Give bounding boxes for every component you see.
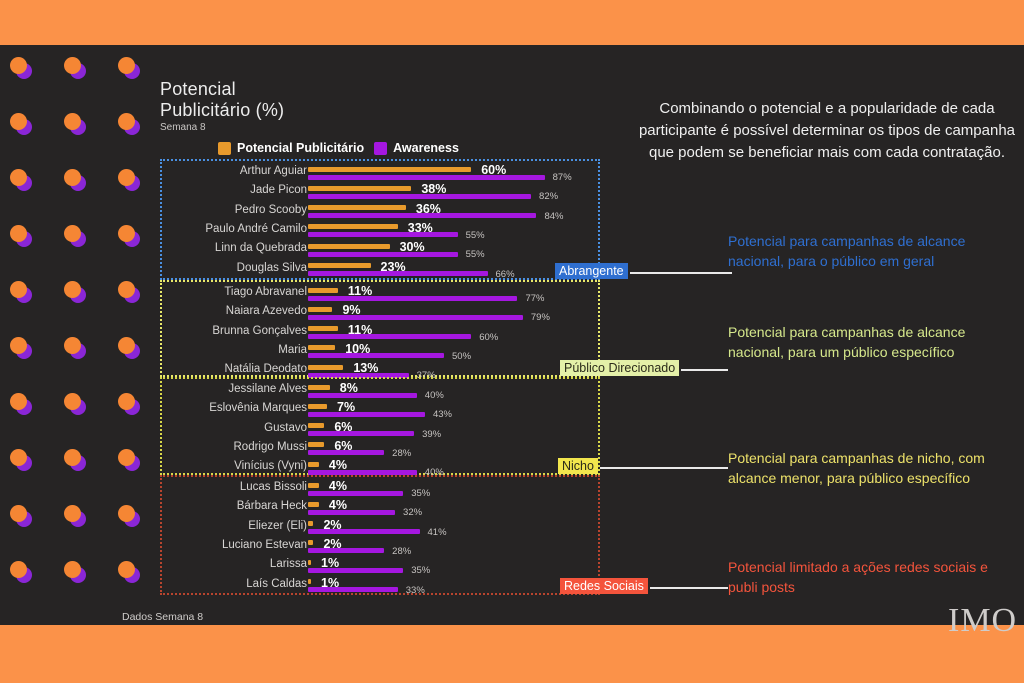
tag-connector-line	[681, 369, 728, 371]
decorative-dot	[118, 57, 140, 79]
chart-row-label: Jessilane Alves	[127, 383, 307, 395]
chart-row-label: Arthur Aguiar	[127, 165, 307, 177]
bar-value-potencial: 2%	[323, 537, 341, 551]
bar-potencial-publicitario	[308, 167, 471, 172]
chart-row-label: Luciano Estevan	[127, 539, 307, 551]
chart-row-label: Rodrigo Mussi	[127, 441, 307, 453]
chart-row: Naiara Azevedo9%79%	[162, 305, 602, 324]
dot-front-circle	[64, 169, 81, 186]
decorative-dot	[64, 561, 86, 583]
legend-label: Potencial Publicitário	[237, 141, 364, 155]
bar-value-potencial: 2%	[323, 518, 341, 532]
chart-row: Brunna Gonçalves11%60%	[162, 325, 602, 344]
chart-row-label: Douglas Silva	[127, 262, 307, 274]
bar-value-awareness: 40%	[425, 390, 444, 401]
bar-potencial-publicitario	[308, 442, 324, 447]
chart-row: Larissa1%35%	[162, 558, 602, 577]
legend-label: Awareness	[393, 141, 459, 155]
page-title: Potencial Publicitário (%)	[160, 79, 284, 121]
chart-row-label: Laís Caldas	[127, 578, 307, 590]
bar-awareness	[308, 175, 545, 180]
chart-row: Eliezer (Eli)2%41%	[162, 520, 602, 539]
chart-row-label: Eliezer (Eli)	[127, 520, 307, 532]
decorative-dot	[118, 113, 140, 135]
decorative-dot	[64, 281, 86, 303]
bar-value-awareness: 39%	[422, 429, 441, 440]
dot-front-circle	[10, 225, 27, 242]
bar-value-awareness: 55%	[466, 230, 485, 241]
bar-awareness	[308, 510, 395, 515]
chart-group-1: Arthur Aguiar60%87%Jade Picon38%82%Pedro…	[160, 159, 600, 280]
category-tag-3[interactable]: Nicho	[558, 458, 598, 474]
bar-potencial-publicitario	[308, 521, 313, 526]
chart-row-label: Bárbara Heck	[127, 500, 307, 512]
bar-value-awareness: 87%	[553, 172, 572, 183]
bar-value-awareness: 33%	[406, 585, 425, 596]
decorative-dot	[10, 505, 32, 527]
decorative-dot	[64, 393, 86, 415]
chart-group-4: Lucas Bissoli4%35%Bárbara Heck4%32%Eliez…	[160, 475, 600, 595]
dot-front-circle	[10, 281, 27, 298]
chart-row: Laís Caldas1%33%	[162, 578, 602, 597]
bar-potencial-publicitario	[308, 205, 406, 210]
bar-value-awareness: 84%	[544, 211, 563, 222]
imo-logo: IMO	[948, 602, 1017, 640]
bar-value-awareness: 79%	[531, 312, 550, 323]
bar-awareness	[308, 315, 523, 320]
chart-row: Maria10%50%	[162, 344, 602, 363]
bar-awareness	[308, 393, 417, 398]
dot-front-circle	[64, 225, 81, 242]
dot-front-circle	[10, 57, 27, 74]
bar-value-potencial: 1%	[321, 556, 339, 570]
header-note: Combinando o potencial e a popularidade …	[636, 98, 1018, 164]
bar-awareness	[308, 296, 517, 301]
decorative-dot	[64, 505, 86, 527]
footer-source-note: Dados Semana 8	[122, 611, 203, 623]
bar-value-potencial: 4%	[329, 458, 347, 472]
legend-swatch-icon	[218, 142, 231, 155]
slide-frame: Potencial Publicitário (%) Semana 8 Pote…	[0, 0, 1024, 683]
decorative-dot	[64, 449, 86, 471]
decorative-dot	[64, 337, 86, 359]
bar-potencial-publicitario	[308, 462, 319, 467]
decorative-dot	[10, 337, 32, 359]
chart-row: Arthur Aguiar60%87%	[162, 165, 602, 184]
bar-value-awareness: 43%	[433, 409, 452, 420]
chart-row-label: Eslovênia Marques	[127, 402, 307, 414]
chart-row-label: Tiago Abravanel	[127, 286, 307, 298]
bar-potencial-publicitario	[308, 502, 319, 507]
bar-potencial-publicitario	[308, 186, 411, 191]
chart-row: Pedro Scooby36%84%	[162, 204, 602, 223]
dot-front-circle	[10, 393, 27, 410]
bar-potencial-publicitario	[308, 224, 398, 229]
chart-row: Luciano Estevan2%28%	[162, 539, 602, 558]
dot-front-circle	[64, 337, 81, 354]
chart-legend: Potencial PublicitárioAwareness	[218, 141, 459, 155]
bar-value-potencial: 33%	[408, 221, 433, 235]
category-tag-1[interactable]: Abrangente	[555, 263, 628, 279]
chart-row: Tiago Abravanel11%77%	[162, 286, 602, 305]
dot-front-circle	[64, 505, 81, 522]
chart-row: Bárbara Heck4%32%	[162, 500, 602, 519]
bar-value-potencial: 1%	[321, 576, 339, 590]
bar-value-potencial: 4%	[329, 479, 347, 493]
chart-row: Douglas Silva23%66%	[162, 262, 602, 281]
bar-value-potencial: 38%	[421, 182, 446, 196]
decorative-dot	[10, 449, 32, 471]
tag-connector-line	[650, 587, 728, 589]
bar-awareness	[308, 353, 444, 358]
bar-awareness	[308, 252, 458, 257]
bar-value-potencial: 10%	[345, 342, 370, 356]
category-tag-2[interactable]: Público Direcionado	[560, 360, 679, 376]
decorative-dot	[10, 561, 32, 583]
bar-potencial-publicitario	[308, 540, 313, 545]
bar-potencial-publicitario	[308, 326, 338, 331]
chart-row-label: Linn da Quebrada	[127, 242, 307, 254]
legend-item-1: Potencial Publicitário	[218, 141, 364, 155]
bar-potencial-publicitario	[308, 288, 338, 293]
bar-value-awareness: 35%	[411, 488, 430, 499]
chart-row-label: Natália Deodato	[127, 363, 307, 375]
legend-swatch-icon	[374, 142, 387, 155]
bar-value-awareness: 28%	[392, 448, 411, 459]
chart-row: Lucas Bissoli4%35%	[162, 481, 602, 500]
category-note-2: Potencial para campanhas de alcance naci…	[728, 322, 996, 362]
chart-row-label: Paulo André Camilo	[127, 223, 307, 235]
bar-value-awareness: 32%	[403, 507, 422, 518]
chart-row: Gustavo6%39%	[162, 422, 602, 441]
bar-value-awareness: 77%	[525, 293, 544, 304]
bar-value-potencial: 9%	[342, 303, 360, 317]
bar-potencial-publicitario	[308, 345, 335, 350]
chart-row-label: Gustavo	[127, 422, 307, 434]
bar-potencial-publicitario	[308, 423, 324, 428]
category-note-4: Potencial limitado a ações redes sociais…	[728, 557, 996, 597]
dot-front-circle	[64, 561, 81, 578]
decorative-dot	[10, 57, 32, 79]
bar-awareness	[308, 548, 384, 553]
bar-value-potencial: 13%	[353, 361, 378, 375]
chart-row-label: Vinícius (Vyni)	[127, 460, 307, 472]
bar-value-potencial: 36%	[416, 202, 441, 216]
bar-value-potencial: 7%	[337, 400, 355, 414]
bar-awareness	[308, 232, 458, 237]
page-title-line1: Potencial	[160, 79, 284, 100]
chart-row-label: Lucas Bissoli	[127, 481, 307, 493]
decorative-dot	[64, 169, 86, 191]
bar-value-potencial: 30%	[400, 240, 425, 254]
decorative-dot	[64, 57, 86, 79]
page-subtitle: Semana 8	[160, 122, 206, 133]
chart-row: Eslovênia Marques7%43%	[162, 402, 602, 421]
category-tag-4[interactable]: Redes Sociais	[560, 578, 648, 594]
bar-value-awareness: 55%	[466, 249, 485, 260]
bar-value-potencial: 8%	[340, 381, 358, 395]
decorative-dot	[64, 113, 86, 135]
chart-group-2: Tiago Abravanel11%77%Naiara Azevedo9%79%…	[160, 280, 600, 377]
bar-potencial-publicitario	[308, 404, 327, 409]
bar-value-potencial: 11%	[348, 284, 372, 298]
legend-item-2: Awareness	[374, 141, 459, 155]
chart-row-label: Brunna Gonçalves	[127, 325, 307, 337]
chart-row: Paulo André Camilo33%55%	[162, 223, 602, 242]
bar-value-potencial: 6%	[334, 420, 352, 434]
bar-value-awareness: 60%	[479, 332, 498, 343]
bar-value-awareness: 41%	[428, 527, 447, 538]
bar-potencial-publicitario	[308, 307, 332, 312]
bar-potencial-publicitario	[308, 385, 330, 390]
chart-row-label: Naiara Azevedo	[127, 305, 307, 317]
dot-front-circle	[10, 561, 27, 578]
bar-value-awareness: 28%	[392, 546, 411, 557]
dot-front-circle	[10, 505, 27, 522]
bar-value-potencial: 6%	[334, 439, 352, 453]
category-note-1: Potencial para campanhas de alcance naci…	[728, 231, 996, 271]
bar-value-potencial: 60%	[481, 163, 506, 177]
bar-potencial-publicitario	[308, 560, 311, 565]
dot-front-circle	[118, 57, 135, 74]
bar-value-awareness: 50%	[452, 351, 471, 362]
grouped-bar-chart: Arthur Aguiar60%87%Jade Picon38%82%Pedro…	[160, 159, 600, 616]
dot-front-circle	[64, 57, 81, 74]
chart-row: Rodrigo Mussi6%28%	[162, 441, 602, 460]
chart-row-label: Maria	[127, 344, 307, 356]
bar-potencial-publicitario	[308, 244, 390, 249]
dot-front-circle	[64, 281, 81, 298]
bar-potencial-publicitario	[308, 263, 371, 268]
decorative-dot	[10, 393, 32, 415]
bar-value-potencial: 4%	[329, 498, 347, 512]
chart-row: Jessilane Alves8%40%	[162, 383, 602, 402]
category-note-3: Potencial para campanhas de nicho, com a…	[728, 448, 996, 488]
dot-front-circle	[10, 449, 27, 466]
bar-awareness	[308, 334, 471, 339]
chart-row-label: Larissa	[127, 558, 307, 570]
bar-value-awareness: 66%	[496, 269, 515, 280]
bar-potencial-publicitario	[308, 579, 311, 584]
chart-row: Jade Picon38%82%	[162, 184, 602, 203]
bar-value-potencial: 11%	[348, 323, 372, 337]
tag-connector-line	[600, 467, 728, 469]
chart-row-label: Jade Picon	[127, 184, 307, 196]
bar-value-awareness: 82%	[539, 191, 558, 202]
decorative-dot	[10, 225, 32, 247]
decorative-dot	[64, 225, 86, 247]
bar-awareness	[308, 491, 403, 496]
bar-potencial-publicitario	[308, 365, 343, 370]
bar-awareness	[308, 470, 417, 475]
bar-potencial-publicitario	[308, 483, 319, 488]
chart-row-label: Pedro Scooby	[127, 204, 307, 216]
dot-front-circle	[10, 169, 27, 186]
bar-awareness	[308, 412, 425, 417]
dot-front-circle	[118, 113, 135, 130]
bar-awareness	[308, 194, 531, 199]
bar-value-potencial: 23%	[381, 260, 406, 274]
decorative-dot	[10, 169, 32, 191]
page-title-line2: Publicitário (%)	[160, 100, 284, 121]
dot-front-circle	[64, 113, 81, 130]
chart-group-3: Jessilane Alves8%40%Eslovênia Marques7%4…	[160, 377, 600, 475]
dot-front-circle	[10, 337, 27, 354]
decorative-dot	[10, 113, 32, 135]
dot-front-circle	[64, 449, 81, 466]
dot-front-circle	[64, 393, 81, 410]
dot-front-circle	[10, 113, 27, 130]
decorative-dot	[10, 281, 32, 303]
slide-canvas: Potencial Publicitário (%) Semana 8 Pote…	[0, 45, 1024, 625]
bar-awareness	[308, 431, 414, 436]
tag-connector-line	[630, 272, 732, 274]
bar-value-awareness: 35%	[411, 565, 430, 576]
